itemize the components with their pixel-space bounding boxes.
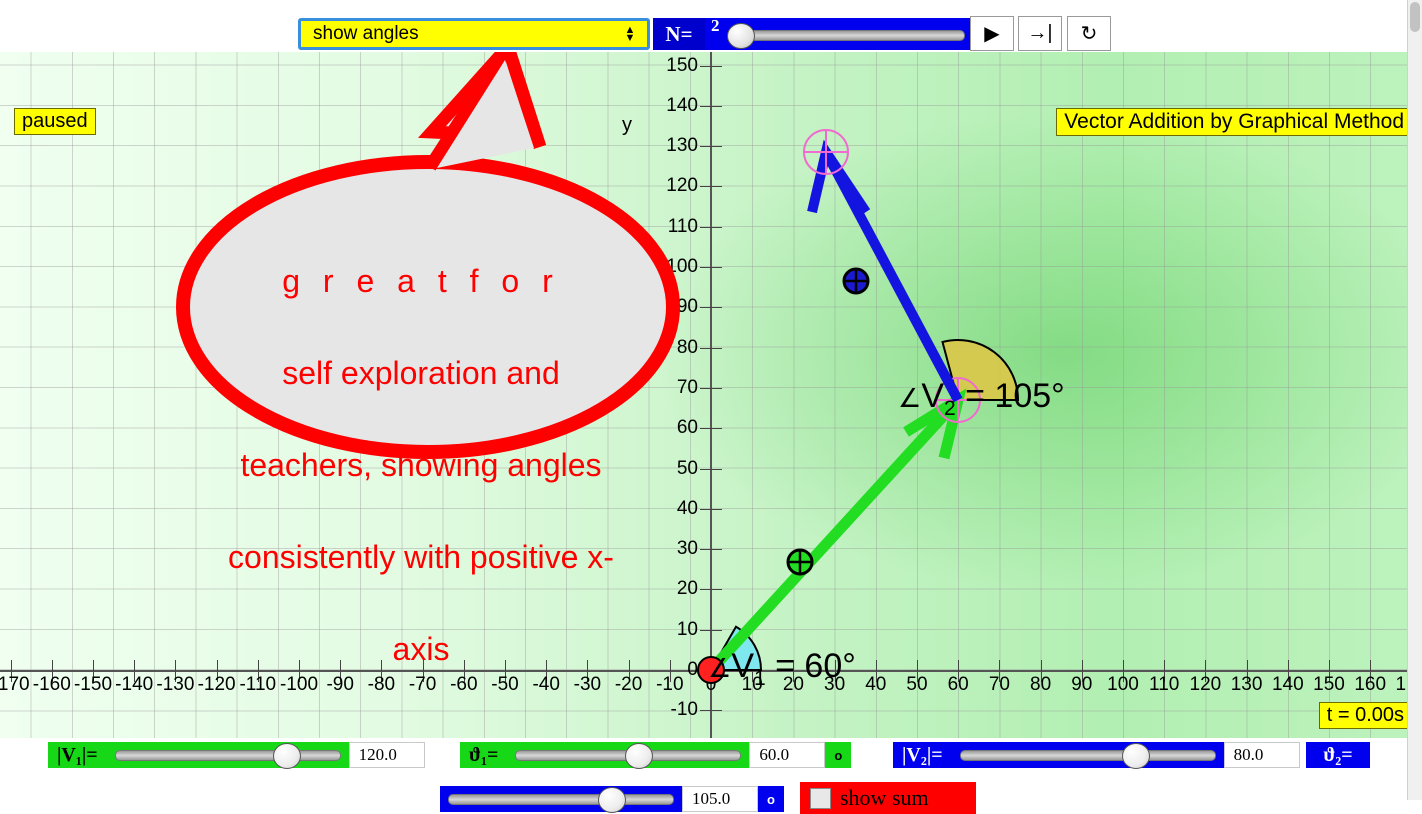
v1-slider-track[interactable] xyxy=(115,750,341,761)
theta2-slider-thumb[interactable] xyxy=(598,787,626,813)
mode-select-value: show angles xyxy=(301,23,619,45)
theta1-label: ϑ₁= xyxy=(460,742,507,768)
v1-name: V xyxy=(731,647,754,685)
v2-magnitude-slider[interactable] xyxy=(952,742,1224,768)
v1-magnitude-control: |V₁|= 120.0 xyxy=(48,742,425,768)
bubble-line-4: consistently with positive x- xyxy=(186,534,656,580)
step-forward-icon: →| xyxy=(1027,22,1052,45)
top-toolbar: show angles ▲▼ N= 2 ▶ →| ↻ xyxy=(0,0,1422,52)
show-sum-checkbox[interactable] xyxy=(810,788,831,809)
theta1-value[interactable]: 60.0 xyxy=(749,742,825,768)
title-badge: Vector Addition by Graphical Method xyxy=(1056,108,1412,136)
time-badge: t = 0.00s xyxy=(1319,702,1412,729)
v2-name: V xyxy=(921,377,944,415)
theta2-value[interactable]: 105.0 xyxy=(682,786,758,812)
page-scrollbar-thumb[interactable] xyxy=(1410,2,1420,32)
theta2-slider-row: 105.0 o xyxy=(440,786,784,812)
show-sum-label: show sum xyxy=(840,785,929,811)
n-value: 2 xyxy=(711,16,720,36)
v2-magnitude-label: |V₂|= xyxy=(893,742,952,768)
v1-slider-thumb[interactable] xyxy=(273,743,301,769)
play-button[interactable]: ▶ xyxy=(970,16,1014,51)
play-icon: ▶ xyxy=(984,21,999,46)
v1-angle-value: = 60° xyxy=(766,647,856,685)
v2-magnitude-value[interactable]: 80.0 xyxy=(1224,742,1300,768)
theta1-control: ϑ₁= 60.0 o xyxy=(460,742,851,768)
theta1-slider-thumb[interactable] xyxy=(625,743,653,769)
n-slider-track[interactable] xyxy=(735,30,965,41)
theta2-slider[interactable] xyxy=(440,786,682,812)
theta2-control: ϑ₂= xyxy=(1306,742,1370,768)
theta1-slider[interactable] xyxy=(507,742,749,768)
theta2-unit: o xyxy=(758,786,784,812)
spinner-arrows-icon[interactable]: ▲▼ xyxy=(619,26,647,42)
v1-subscript: 1 xyxy=(754,667,766,690)
bottom-control-panel: |V₁|= 120.0 ϑ₁= 60.0 o |V₂|= 80.0 xyxy=(0,738,1422,800)
bubble-line-5: axis xyxy=(186,626,656,672)
vector-v2-angle-label: ∠V2 = 105° xyxy=(898,377,1065,421)
n-label: N= xyxy=(653,18,705,50)
theta2-slider-track[interactable] xyxy=(448,794,674,805)
theta2-label: ϑ₂= xyxy=(1306,742,1370,768)
status-badge: paused xyxy=(14,108,96,135)
v1-magnitude-slider[interactable] xyxy=(107,742,349,768)
angle-symbol-v1: ∠ xyxy=(708,653,731,683)
mode-select[interactable]: show angles ▲▼ xyxy=(298,18,650,50)
vector-v1-shaft[interactable] xyxy=(711,400,958,670)
step-forward-button[interactable]: →| xyxy=(1018,16,1062,51)
angle-symbol-v2: ∠ xyxy=(898,383,921,413)
bubble-line-1: g r e a t f o r xyxy=(186,258,656,304)
v2-subscript: 2 xyxy=(944,397,956,420)
plot-canvas[interactable]: -220-210-200-190-180-170-160-150-140-130… xyxy=(0,52,1422,738)
v2-magnitude-control: |V₂|= 80.0 xyxy=(893,742,1300,768)
bubble-line-2: self exploration and xyxy=(186,350,656,396)
vector-v1-angle-label: ∠V1 = 60° xyxy=(708,647,856,691)
reset-icon: ↻ xyxy=(1081,21,1098,46)
v1-magnitude-label: |V₁|= xyxy=(48,742,107,768)
v2-slider-thumb[interactable] xyxy=(1122,743,1150,769)
page-scrollbar[interactable] xyxy=(1407,0,1422,800)
bubble-line-3: teachers, showing angles xyxy=(186,442,656,488)
v2-angle-value: = 105° xyxy=(956,377,1065,415)
v1-magnitude-value[interactable]: 120.0 xyxy=(349,742,425,768)
theta1-unit: o xyxy=(825,742,851,768)
v2-slider-track[interactable] xyxy=(960,750,1216,761)
n-slider-thumb[interactable] xyxy=(727,23,755,49)
simulation-app: show angles ▲▼ N= 2 ▶ →| ↻ -220-210-200-… xyxy=(0,0,1422,800)
speech-bubble-text: g r e a t f o r self exploration and tea… xyxy=(186,212,656,718)
reset-button[interactable]: ↻ xyxy=(1067,16,1111,51)
n-slider[interactable]: 2 xyxy=(705,18,970,50)
show-sum-toggle[interactable]: show sum xyxy=(800,782,976,814)
